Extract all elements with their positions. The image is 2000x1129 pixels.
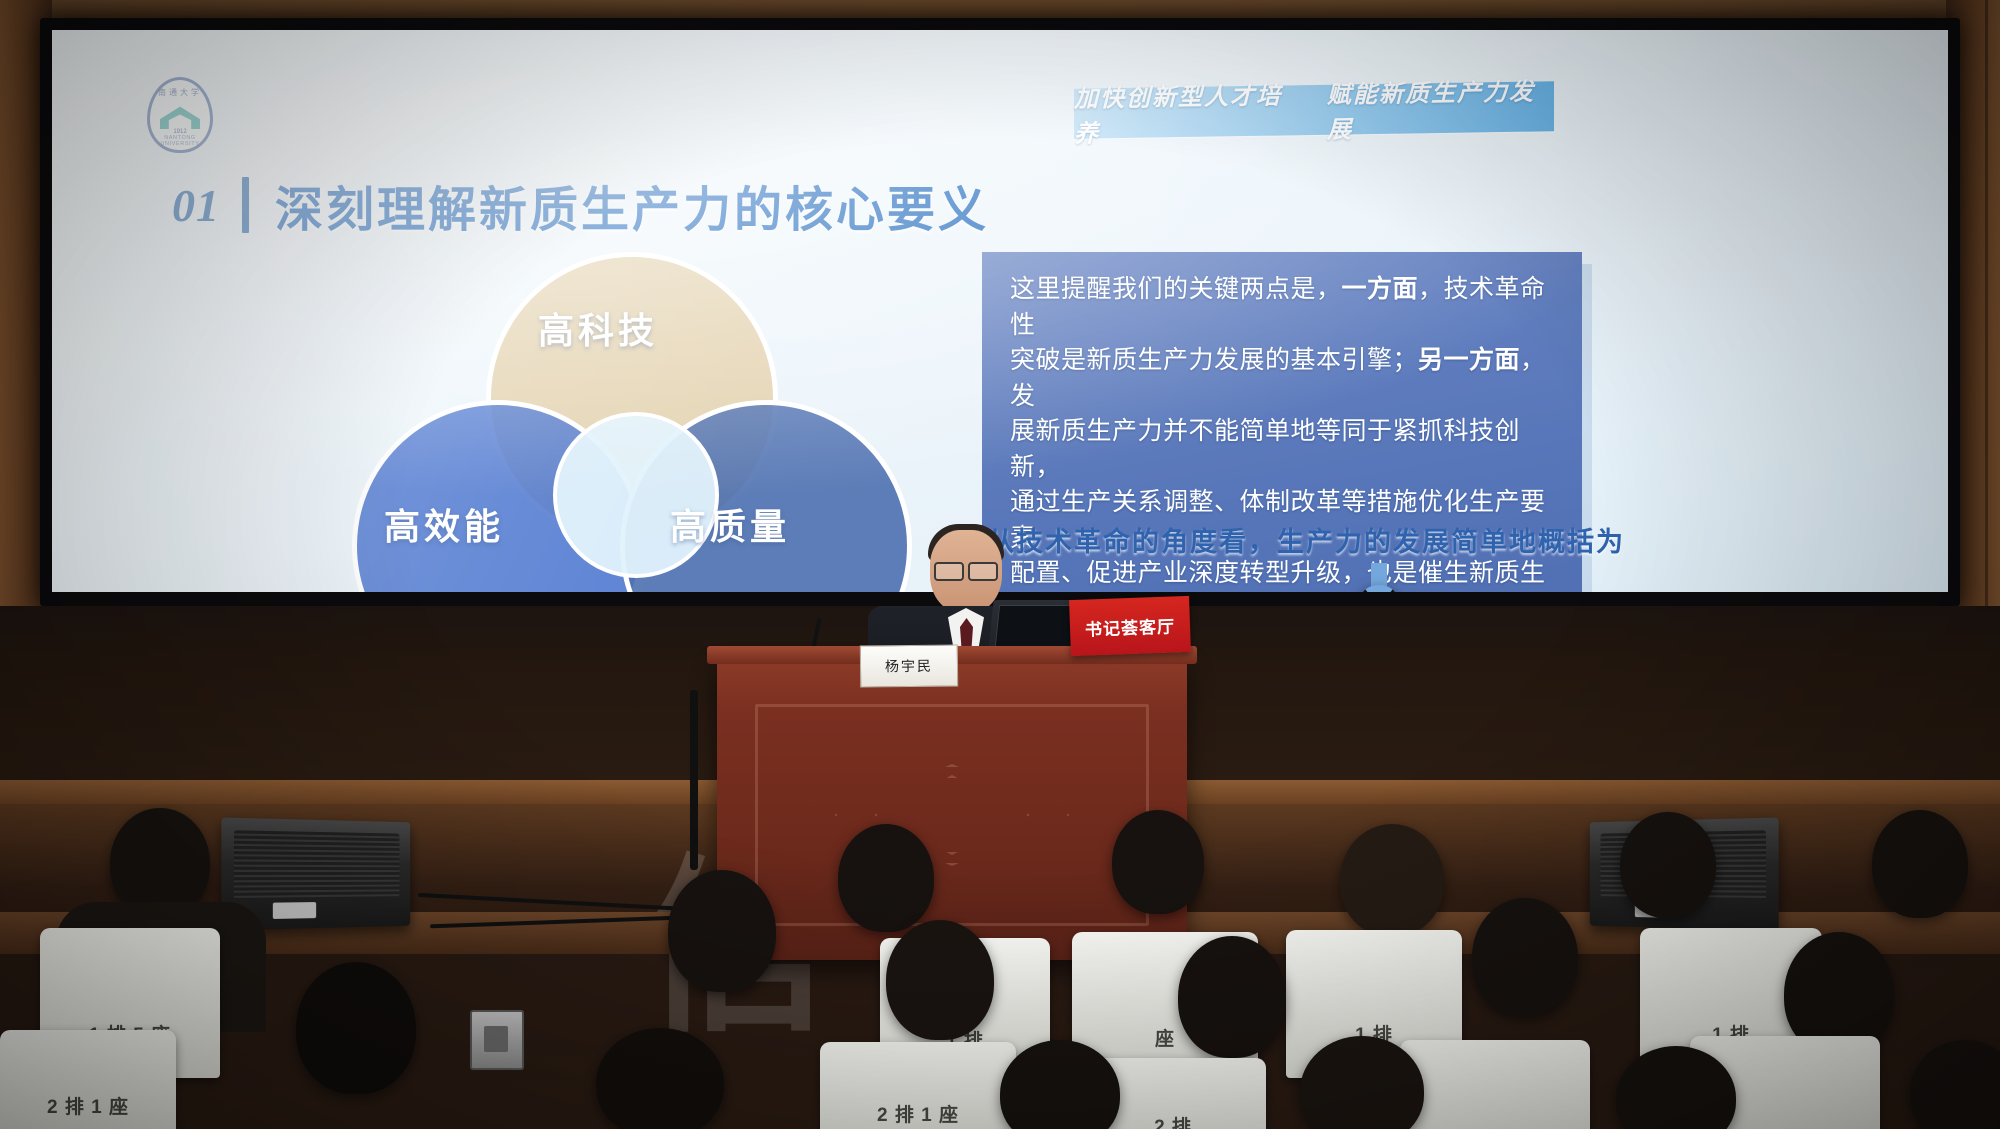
slide-subheading: 从技术革命的角度看，生产力的发展简单地概括为 [987, 520, 1625, 559]
section-title: 深刻理解新质生产力的核心要义 [275, 170, 989, 240]
venn-diagram: 高科技 高效能 高质量 [352, 252, 912, 582]
venn-caption: 新质生产力的“质” [336, 590, 735, 592]
audience-head [886, 920, 994, 1040]
audience-head [1472, 898, 1578, 1016]
screenshot-root: 南通大学 1912 NANTONG UNIVERSITY 加快创新型人才培养 赋… [0, 0, 2000, 1129]
venn-label-left: 高效能 [384, 498, 504, 550]
audience-head [296, 962, 416, 1094]
red-event-sign: 书记荟客厅 [1069, 596, 1191, 656]
seat: 2 排 1 座 [820, 1042, 1016, 1129]
projected-slide: 南通大学 1912 NANTONG UNIVERSITY 加快创新型人才培养 赋… [52, 30, 1948, 592]
audience-area: 1 排 5 座 1 排 座 1 排 1 排 2 排 1 座 2 排 1 座 2 … [0, 790, 2000, 1129]
seat-label: 2 排 1 座 [820, 1100, 1016, 1127]
venn-center-overlap [553, 412, 719, 578]
banner-left-text: 加快创新型人才培养 [1074, 75, 1301, 149]
section-heading: 01 深刻理解新质生产力的核心要义 [172, 170, 989, 240]
quote-line-5: 配置、促进产业深度转型升级，也是催生新质生产 [1010, 556, 1558, 592]
audience-head [1112, 810, 1204, 914]
seat [1400, 1040, 1590, 1129]
crest-top-text: 南通大学 [157, 87, 203, 101]
section-number: 01 [172, 179, 220, 232]
crest-bottom-text: NANTONG UNIVERSITY [149, 135, 211, 147]
venn-label-top: 高科技 [538, 302, 658, 354]
quote-line-2: 突破是新质生产力发展的基本引擎；另一方面，发 [1010, 343, 1558, 414]
audience-head [1340, 824, 1444, 936]
slide-banner: 加快创新型人才培养 赋能新质生产力发展 [1074, 81, 1554, 139]
audience-head [1910, 1040, 2000, 1129]
quote-line-1: 这里提醒我们的关键两点是，一方面，技术革命性 [1010, 272, 1558, 343]
seat-label: 2 排 1 座 [0, 1092, 176, 1119]
venn-label-right: 高质量 [670, 498, 790, 550]
audience-head [596, 1028, 724, 1129]
audience-head [838, 824, 934, 932]
speaker-glasses-icon [934, 562, 998, 577]
section-divider [242, 177, 249, 233]
audience-head [1178, 936, 1286, 1058]
audience-head [1872, 810, 1968, 918]
seat: 2 排 1 座 [0, 1030, 176, 1129]
down-arrow-icon [1362, 563, 1396, 592]
audience-head [1620, 812, 1716, 918]
quote-line-3: 展新质生产力并不能简单地等同于紧抓科技创新， [1010, 414, 1558, 485]
university-crest-icon: 南通大学 1912 NANTONG UNIVERSITY [147, 77, 213, 153]
banner-right-text: 赋能新质生产力发展 [1327, 71, 1554, 145]
audience-head [668, 870, 776, 992]
speaker-nameplate: 杨宇民 [860, 644, 958, 687]
